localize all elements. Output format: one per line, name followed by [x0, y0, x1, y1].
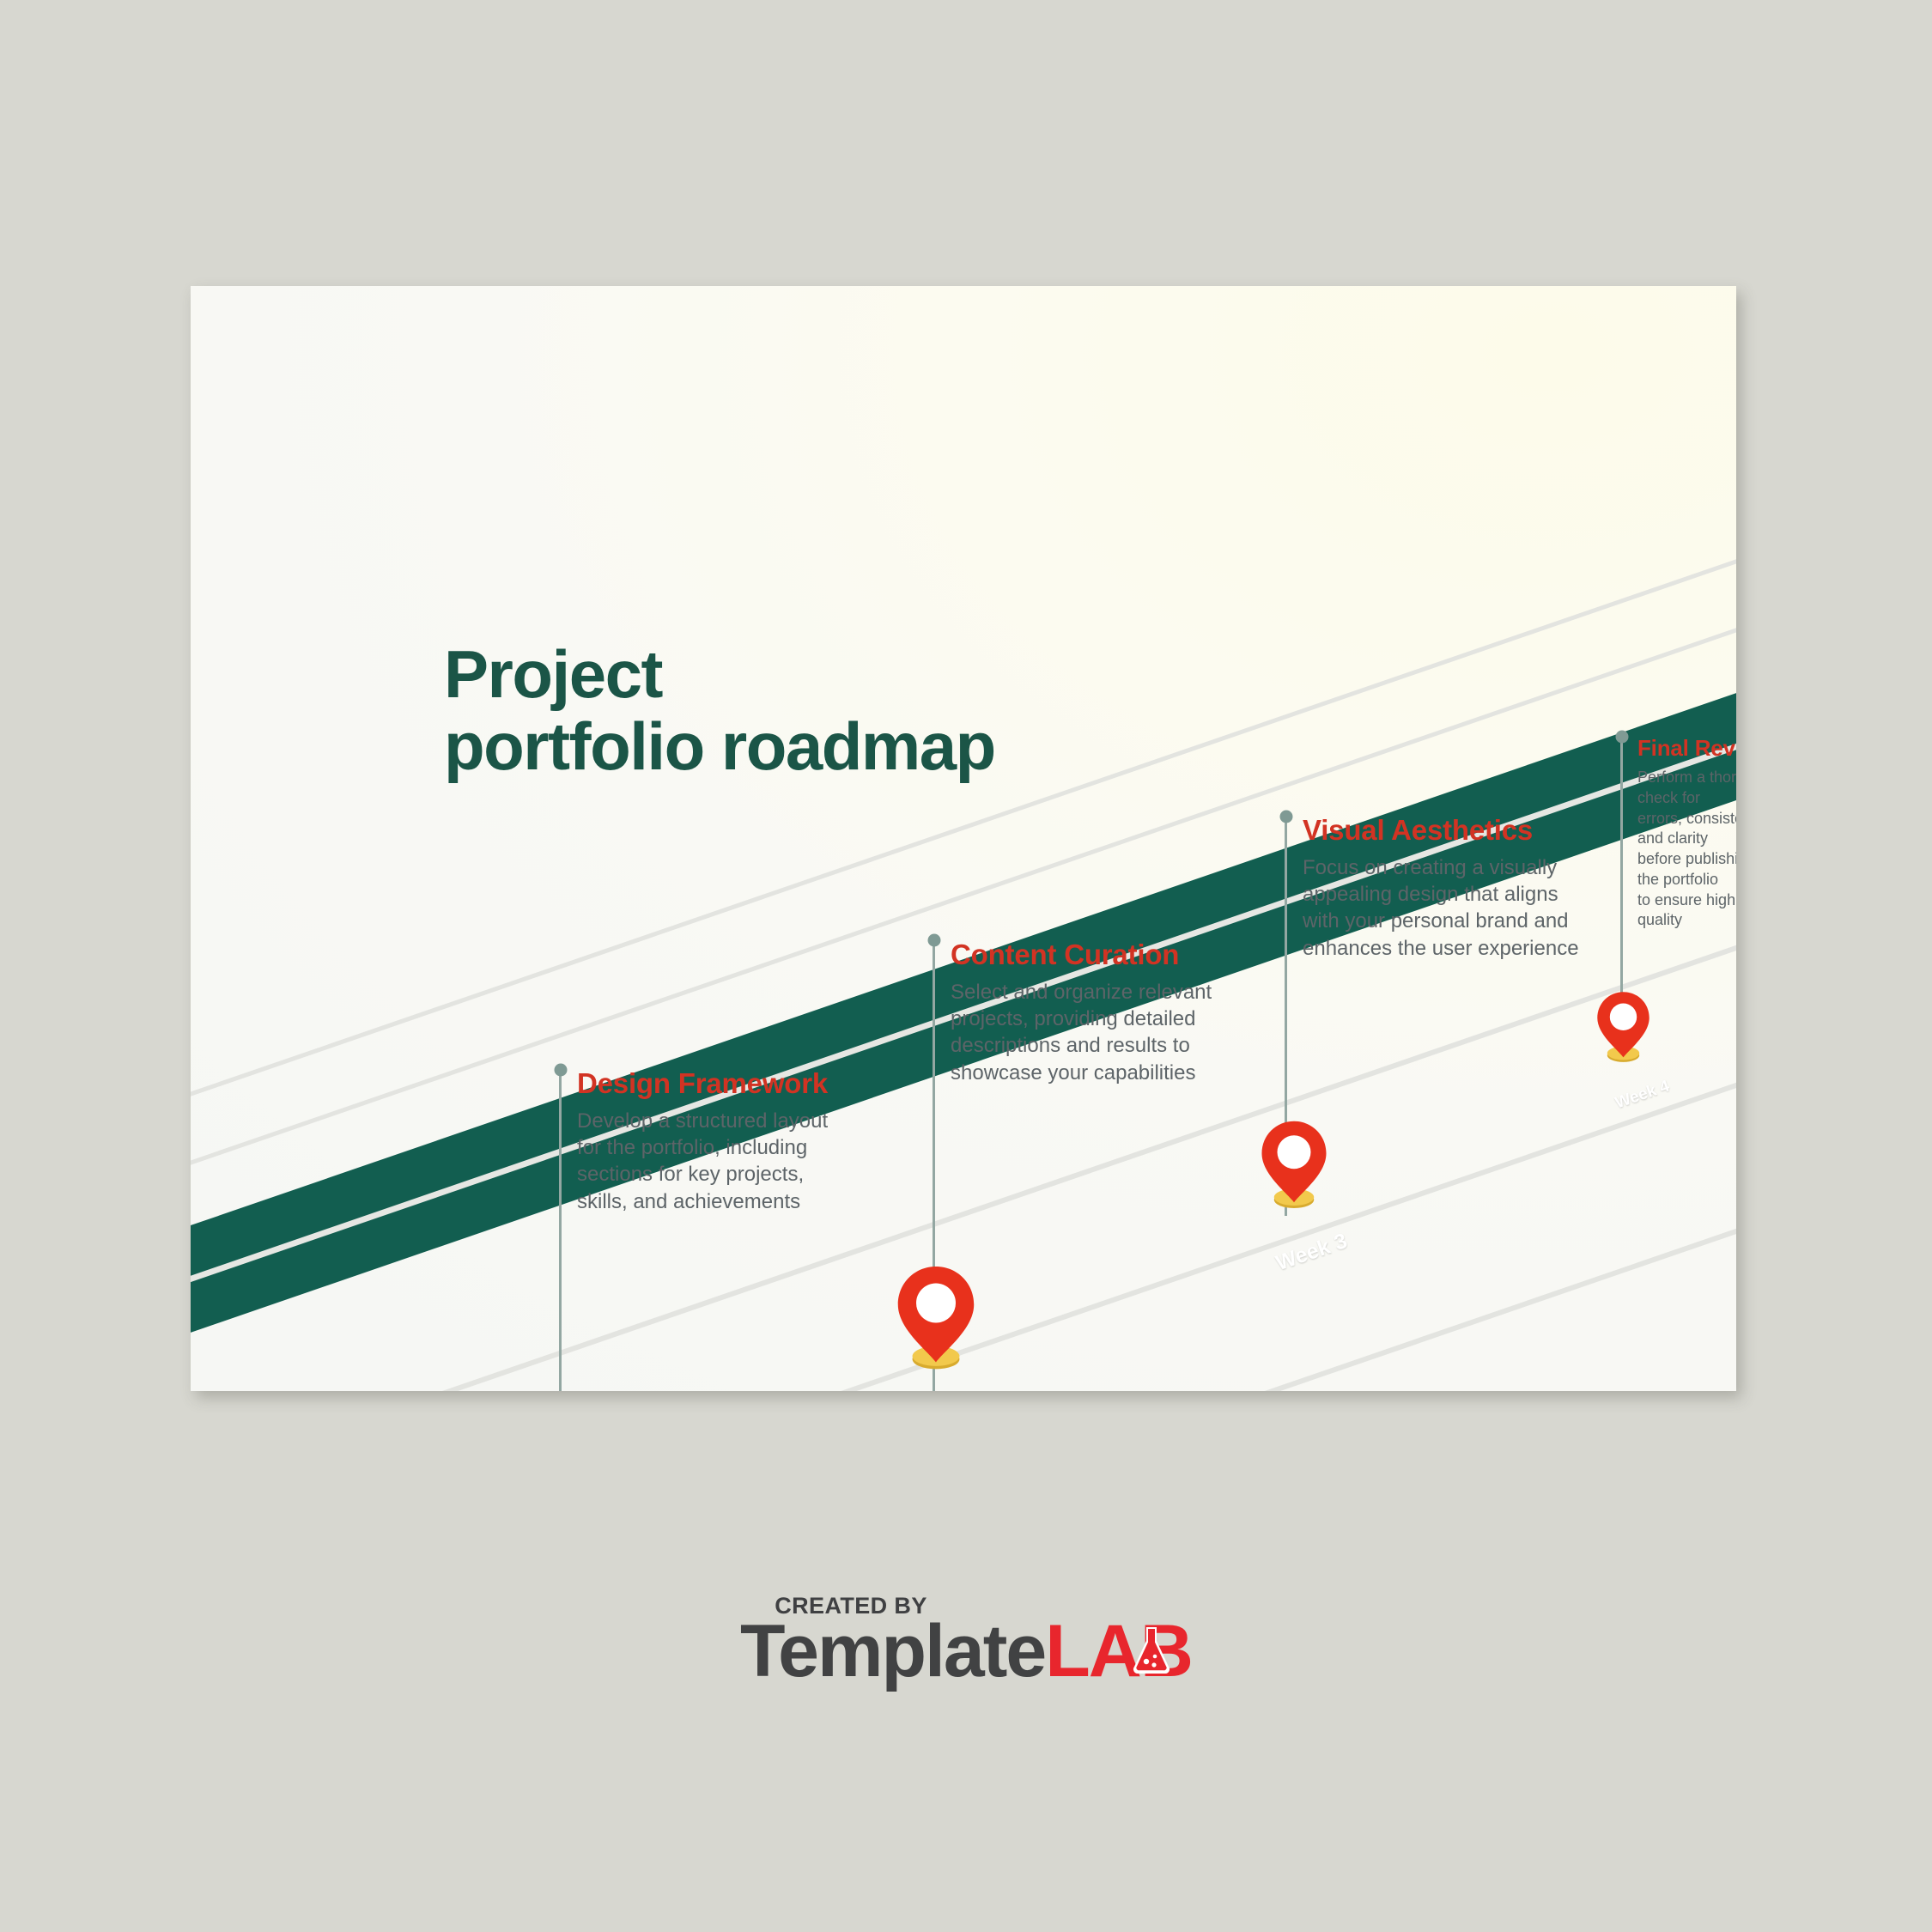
milestone-block-week-1: Design Framework Develop a structured la… [577, 1067, 828, 1215]
milestone-description: Develop a structured layout for the port… [577, 1108, 828, 1215]
pin-hole-icon [1278, 1135, 1311, 1169]
milestone-block-week-3: Visual Aesthetics Focus on creating a vi… [1303, 814, 1579, 962]
wordmark-template-text: Template [740, 1610, 1045, 1692]
connector-dot-icon [1279, 811, 1292, 823]
map-pin-week-2[interactable] [896, 1265, 975, 1367]
map-pin-week-4[interactable] [1596, 991, 1650, 1060]
milestone-title: Visual Aesthetics [1303, 814, 1579, 847]
connector-dot-icon [554, 1064, 567, 1077]
milestone-description: Focus on creating a visually appealing d… [1303, 854, 1579, 962]
map-pin-week-3[interactable] [1261, 1120, 1327, 1206]
connector-line-week-4 [1620, 737, 1623, 1023]
page-title: Project portfolio roadmap [444, 638, 995, 782]
milestone-title: Content Curation [951, 939, 1212, 971]
milestone-block-week-2: Content Curation Select and organize rel… [951, 939, 1212, 1086]
wordmark-lab-text: LAB [1045, 1610, 1192, 1692]
connector-dot-icon [1615, 731, 1628, 744]
milestone-title: Design Framework [577, 1067, 828, 1100]
created-by-templatelab-logo: CREATED BY TemplateLAB [0, 1593, 1932, 1688]
templatelab-wordmark: TemplateLAB [740, 1614, 1192, 1688]
pin-hole-icon [916, 1283, 956, 1322]
screenshot-root: Project portfolio roadmap Design Framewo… [0, 0, 1932, 1932]
pin-hole-icon [1610, 1004, 1637, 1030]
milestone-title: Final Review [1637, 735, 1736, 762]
connector-dot-icon [927, 934, 940, 947]
flask-icon [1127, 1624, 1176, 1677]
roadmap-card: Project portfolio roadmap Design Framewo… [191, 286, 1736, 1391]
connector-line-week-1 [559, 1070, 562, 1391]
milestone-description: Select and organize relevant projects, p… [951, 979, 1212, 1086]
milestone-block-week-4: Final Review Perform a thorough check fo… [1637, 735, 1736, 931]
milestone-description: Perform a thorough check for errors, con… [1637, 768, 1736, 931]
